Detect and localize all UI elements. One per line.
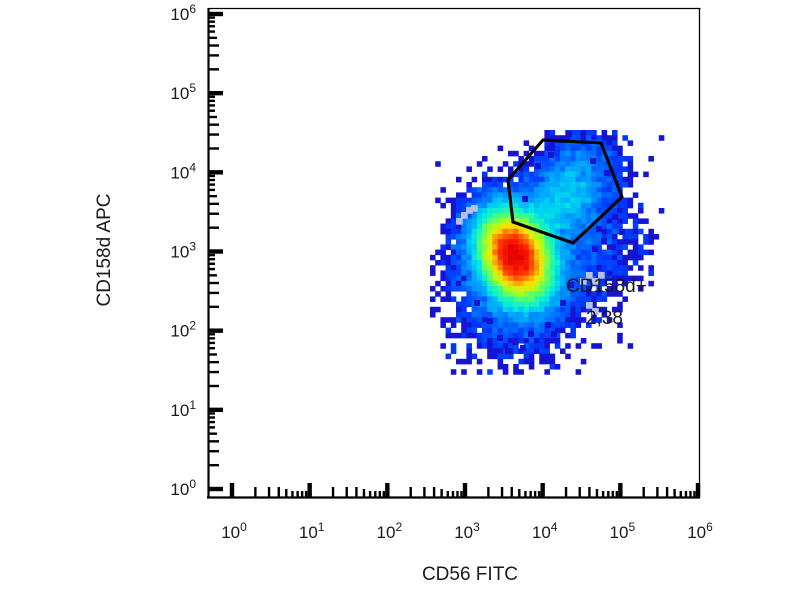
- event-density-cell: [503, 203, 509, 209]
- event-density-cell: [472, 234, 478, 240]
- event-density-cell: [617, 338, 623, 344]
- event-density-cell: [472, 317, 478, 323]
- event-density-cell: [513, 239, 519, 245]
- event-density-cell: [508, 260, 514, 266]
- event-density-cell: [498, 354, 504, 360]
- event-density-cell: [565, 166, 571, 172]
- event-density-cell: [591, 239, 597, 245]
- event-density-cell: [607, 187, 613, 193]
- event-density-cell: [466, 348, 472, 354]
- event-density-cell: [570, 182, 576, 188]
- plot-background: [0, 0, 800, 600]
- event-density-cell: [446, 224, 452, 230]
- event-density-cell: [503, 354, 509, 360]
- event-density-cell: [456, 333, 462, 339]
- event-density-cell: [435, 307, 441, 313]
- event-density-cell: [440, 229, 446, 235]
- event-density-cell: [518, 276, 524, 282]
- event-density-cell: [518, 213, 524, 219]
- event-density-cell: [539, 208, 545, 214]
- event-density-cell: [482, 343, 488, 349]
- event-density-cell: [555, 265, 561, 271]
- event-density-cell: [617, 265, 623, 271]
- event-density-cell: [524, 229, 530, 235]
- event-density-cell: [586, 213, 592, 219]
- event-density-cell: [581, 166, 587, 172]
- event-density-cell: [565, 333, 571, 339]
- event-density-cell: [586, 239, 592, 245]
- event-density-cell: [498, 244, 504, 250]
- event-density-cell: [435, 161, 441, 167]
- event-density-cell: [466, 286, 472, 292]
- event-density-cell: [466, 265, 472, 271]
- event-density-cell: [617, 239, 623, 245]
- event-density-cell: [482, 177, 488, 183]
- event-density-cell: [451, 369, 457, 375]
- event-density-cell: [581, 255, 587, 261]
- event-density-cell: [466, 312, 472, 318]
- event-density-cell: [477, 192, 483, 198]
- event-density-cell: [570, 172, 576, 178]
- event-density-cell: [617, 156, 623, 162]
- event-density-cell: [440, 187, 446, 193]
- event-density-cell: [560, 146, 566, 152]
- event-density-cell: [560, 203, 566, 209]
- event-density-cell: [544, 244, 550, 250]
- event-density-cell: [544, 328, 550, 334]
- event-density-cell: [628, 265, 634, 271]
- event-density-cell: [638, 265, 644, 271]
- event-density-cell: [638, 229, 644, 235]
- event-density-cell: [498, 213, 504, 219]
- x-axis-title: CD56 FITC: [422, 564, 518, 585]
- event-density-cell: [446, 328, 452, 334]
- event-density-cell: [477, 281, 483, 287]
- event-density-cell: [482, 312, 488, 318]
- event-density-cell: [550, 281, 556, 287]
- event-density-cell: [602, 218, 608, 224]
- event-density-cell: [503, 338, 509, 344]
- event-density-cell: [487, 244, 493, 250]
- event-density-cell: [633, 213, 639, 219]
- event-density-cell: [570, 229, 576, 235]
- event-density-cell: [524, 302, 530, 308]
- event-density-cell: [529, 182, 535, 188]
- event-density-cell: [617, 260, 623, 266]
- event-density-cell: [503, 250, 509, 256]
- event-density-cell: [440, 343, 446, 349]
- event-density-cell: [446, 260, 452, 266]
- event-density-cell: [560, 156, 566, 162]
- plot-canvas: 100101102103104105106 100101102103104105…: [0, 0, 800, 600]
- event-density-cell: [591, 166, 597, 172]
- event-density-cell: [565, 312, 571, 318]
- event-density-cell: [539, 192, 545, 198]
- event-density-cell: [477, 343, 483, 349]
- event-density-cell: [461, 255, 467, 261]
- event-density-cell: [529, 359, 535, 365]
- event-density-cell: [622, 208, 628, 214]
- event-density-cell: [456, 250, 462, 256]
- event-density-cell: [576, 255, 582, 261]
- event-density-cell: [518, 177, 524, 183]
- event-density-cell: [565, 213, 571, 219]
- event-density-cell: [539, 322, 545, 328]
- event-density-cell: [451, 348, 457, 354]
- event-density-cell: [498, 260, 504, 266]
- event-density-cell: [518, 260, 524, 266]
- event-density-cell: [591, 130, 597, 136]
- event-density-cell: [607, 260, 613, 266]
- event-density-cell: [612, 192, 618, 198]
- event-density-cell: [503, 255, 509, 261]
- event-density-cell: [581, 146, 587, 152]
- event-density-cell: [466, 198, 472, 204]
- event-density-cell: [492, 239, 498, 245]
- event-density-cell: [524, 234, 530, 240]
- event-density-cell: [513, 198, 519, 204]
- event-density-cell: [534, 187, 540, 193]
- event-density-cell: [607, 250, 613, 256]
- event-density-cell: [529, 276, 535, 282]
- event-density-cell: [544, 265, 550, 271]
- event-density-cell: [581, 161, 587, 167]
- event-density-cell: [482, 187, 488, 193]
- event-density-cell: [581, 177, 587, 183]
- tick-exponent: 2: [395, 520, 402, 534]
- event-density-cell: [529, 244, 535, 250]
- event-density-cell: [498, 166, 504, 172]
- event-density-cell: [472, 286, 478, 292]
- event-density-cell: [560, 177, 566, 183]
- event-density-cell: [560, 348, 566, 354]
- event-density-cell: [555, 312, 561, 318]
- event-density-cell: [591, 255, 597, 261]
- event-density-cell: [539, 343, 545, 349]
- event-density-cell: [513, 229, 519, 235]
- event-density-cell: [529, 343, 535, 349]
- event-density-cell: [456, 286, 462, 292]
- event-density-cell: [544, 270, 550, 276]
- event-density-cell: [544, 208, 550, 214]
- event-density-cell: [446, 276, 452, 282]
- event-density-cell: [529, 208, 535, 214]
- event-density-cell: [487, 291, 493, 297]
- event-density-cell: [456, 281, 462, 287]
- event-density-cell: [456, 270, 462, 276]
- event-density-cell: [518, 270, 524, 276]
- event-density-cell: [451, 208, 457, 214]
- event-density-cell: [596, 166, 602, 172]
- event-density-cell: [461, 192, 467, 198]
- event-density-cell: [456, 213, 462, 219]
- event-density-cell: [544, 255, 550, 261]
- event-density-cell: [570, 151, 576, 157]
- event-density-cell: [472, 328, 478, 334]
- event-density-cell: [591, 265, 597, 271]
- event-density-cell: [440, 203, 446, 209]
- event-density-cell: [591, 234, 597, 240]
- event-density-cell: [492, 286, 498, 292]
- event-density-cell: [550, 265, 556, 271]
- event-density-cell: [534, 307, 540, 313]
- event-density-cell: [560, 213, 566, 219]
- event-density-cell: [477, 198, 483, 204]
- event-density-cell: [461, 265, 467, 271]
- event-density-cell: [477, 270, 483, 276]
- event-density-cell: [513, 317, 519, 323]
- event-density-cell: [492, 244, 498, 250]
- event-density-cell: [633, 244, 639, 250]
- event-density-cell: [529, 260, 535, 266]
- event-density-cell: [487, 270, 493, 276]
- event-density-cell: [524, 296, 530, 302]
- event-density-cell: [534, 203, 540, 209]
- event-density-cell: [456, 192, 462, 198]
- event-density-cell: [544, 250, 550, 256]
- event-density-cell: [643, 172, 649, 178]
- event-density-cell: [612, 224, 618, 230]
- event-density-cell: [534, 177, 540, 183]
- event-density-cell: [461, 302, 467, 308]
- event-density-cell: [482, 255, 488, 261]
- event-density-cell: [612, 265, 618, 271]
- event-density-cell: [487, 208, 493, 214]
- event-density-cell: [555, 208, 561, 214]
- event-density-cell: [648, 250, 654, 256]
- event-density-cell: [456, 255, 462, 261]
- event-density-cell: [503, 218, 509, 224]
- event-density-cell: [513, 250, 519, 256]
- event-density-cell: [451, 203, 457, 209]
- event-density-cell: [560, 192, 566, 198]
- event-density-cell: [518, 296, 524, 302]
- event-density-cell: [617, 151, 623, 157]
- event-density-cell: [643, 239, 649, 245]
- event-density-cell: [550, 218, 556, 224]
- event-density-cell: [534, 218, 540, 224]
- event-density-cell: [643, 234, 649, 240]
- event-density-cell: [617, 224, 623, 230]
- event-density-cell: [498, 192, 504, 198]
- event-density-cell: [446, 333, 452, 339]
- event-density-cell: [456, 177, 462, 183]
- event-density-cell: [628, 203, 634, 209]
- gate-label-percent: 2,38: [586, 308, 623, 329]
- event-density-cell-low: [456, 218, 463, 225]
- event-density-cell: [498, 234, 504, 240]
- event-density-cell: [487, 296, 493, 302]
- event-density-cell: [544, 343, 550, 349]
- event-density-cell: [617, 302, 623, 308]
- tick-exponent: 4: [551, 520, 558, 534]
- event-density-cell: [524, 140, 530, 146]
- event-density-cell: [602, 198, 608, 204]
- event-density-cell: [586, 250, 592, 256]
- event-density-cell: [518, 229, 524, 235]
- event-density-cell: [508, 333, 514, 339]
- event-density-cell: [560, 286, 566, 292]
- event-density-cell: [466, 354, 472, 360]
- event-density-cell: [482, 302, 488, 308]
- event-density-cell: [518, 172, 524, 178]
- event-density-cell: [477, 213, 483, 219]
- event-density-cell: [482, 198, 488, 204]
- event-density-cell: [596, 198, 602, 204]
- event-density-cell: [487, 192, 493, 198]
- event-density-cell: [591, 229, 597, 235]
- event-density-cell: [518, 255, 524, 261]
- event-density-cell: [581, 198, 587, 204]
- tick-exponent: 0: [189, 477, 196, 491]
- event-density-cell: [576, 296, 582, 302]
- event-density-cell: [534, 348, 540, 354]
- event-density-cell: [612, 250, 618, 256]
- event-density-cell: [472, 354, 478, 360]
- event-density-cell: [456, 276, 462, 282]
- event-density-cell: [576, 265, 582, 271]
- event-density-cell: [503, 224, 509, 230]
- event-density-cell: [451, 270, 457, 276]
- event-density-cell: [570, 317, 576, 323]
- event-density-cell: [602, 161, 608, 167]
- event-density-cell: [529, 296, 535, 302]
- event-density-cell: [492, 312, 498, 318]
- event-density-cell: [581, 130, 587, 136]
- event-density-cell: [560, 229, 566, 235]
- event-density-cell: [492, 276, 498, 282]
- event-density-cell: [466, 302, 472, 308]
- event-density-cell: [492, 354, 498, 360]
- event-density-cell: [482, 317, 488, 323]
- event-density-cell: [586, 172, 592, 178]
- event-density-cell: [648, 239, 654, 245]
- event-density-cell: [617, 203, 623, 209]
- event-density-cell: [461, 239, 467, 245]
- event-density-cell: [518, 333, 524, 339]
- event-density-cell: [550, 161, 556, 167]
- event-density-cell: [503, 270, 509, 276]
- event-density-cell: [622, 166, 628, 172]
- event-density-cell: [524, 281, 530, 287]
- event-density-cell: [602, 135, 608, 141]
- event-density-cell: [622, 213, 628, 219]
- event-density-cell: [550, 224, 556, 230]
- event-density-cell: [581, 208, 587, 214]
- event-density-cell: [555, 161, 561, 167]
- event-density-cell: [534, 213, 540, 219]
- event-density-cell: [560, 328, 566, 334]
- event-density-cell: [607, 140, 613, 146]
- event-density-cell: [472, 291, 478, 297]
- event-density-cell: [508, 281, 514, 287]
- event-density-cell: [487, 286, 493, 292]
- event-density-cell: [440, 286, 446, 292]
- event-density-cell: [466, 250, 472, 256]
- event-density-cell: [534, 244, 540, 250]
- event-density-cell: [518, 239, 524, 245]
- event-density-cell: [487, 354, 493, 360]
- event-density-cell: [570, 296, 576, 302]
- event-density-cell: [446, 286, 452, 292]
- event-density-cell: [451, 296, 457, 302]
- event-density-cell: [565, 265, 571, 271]
- event-density-cell: [529, 187, 535, 193]
- event-density-cell: [492, 296, 498, 302]
- event-density-cell: [560, 161, 566, 167]
- event-density-cell: [503, 296, 509, 302]
- event-density-cell: [466, 182, 472, 188]
- event-density-cell: [555, 172, 561, 178]
- event-density-cell: [576, 307, 582, 313]
- event-density-cell: [586, 244, 592, 250]
- event-density-cell: [607, 177, 613, 183]
- event-density-cell: [534, 291, 540, 297]
- event-density-cell: [576, 302, 582, 308]
- event-density-cell: [607, 265, 613, 271]
- event-density-cell: [570, 146, 576, 152]
- event-density-cell: [586, 146, 592, 152]
- event-density-cell: [513, 192, 519, 198]
- event-density-cell: [482, 208, 488, 214]
- event-density-cell: [513, 276, 519, 282]
- event-density-cell: [555, 250, 561, 256]
- event-density-cell: [586, 198, 592, 204]
- event-density-cell: [596, 187, 602, 193]
- event-density-cell: [560, 198, 566, 204]
- event-density-cell: [622, 156, 628, 162]
- tick-exponent: 6: [706, 520, 713, 534]
- event-density-cell: [472, 270, 478, 276]
- event-density-cell: [503, 192, 509, 198]
- event-density-cell: [539, 182, 545, 188]
- event-density-cell: [591, 187, 597, 193]
- event-density-cell: [565, 192, 571, 198]
- event-density-cell: [633, 234, 639, 240]
- event-density-cell: [498, 348, 504, 354]
- event-density-cell: [576, 161, 582, 167]
- event-density-cell: [576, 198, 582, 204]
- event-density-cell: [586, 255, 592, 261]
- event-density-cell: [550, 317, 556, 323]
- event-density-cell: [591, 172, 597, 178]
- event-density-cell: [524, 291, 530, 297]
- event-density-cell: [529, 302, 535, 308]
- event-density-cell: [482, 244, 488, 250]
- event-density-cell: [633, 239, 639, 245]
- event-density-cell: [576, 182, 582, 188]
- event-density-cell: [539, 276, 545, 282]
- event-density-cell: [482, 281, 488, 287]
- event-density-cell: [503, 302, 509, 308]
- event-density-cell: [477, 359, 483, 365]
- event-density-cell: [440, 260, 446, 266]
- event-density-cell: [596, 177, 602, 183]
- event-density-cell: [466, 317, 472, 323]
- event-density-cell: [472, 265, 478, 271]
- event-density-cell: [555, 151, 561, 157]
- event-density-cell: [570, 255, 576, 261]
- event-density-cell: [524, 182, 530, 188]
- event-density-cell: [643, 250, 649, 256]
- event-density-cell: [492, 260, 498, 266]
- event-density-cell: [612, 255, 618, 261]
- event-density-cell: [565, 250, 571, 256]
- event-density-cell: [576, 224, 582, 230]
- event-density-cell: [622, 198, 628, 204]
- event-density-cell: [518, 291, 524, 297]
- event-density-cell: [550, 192, 556, 198]
